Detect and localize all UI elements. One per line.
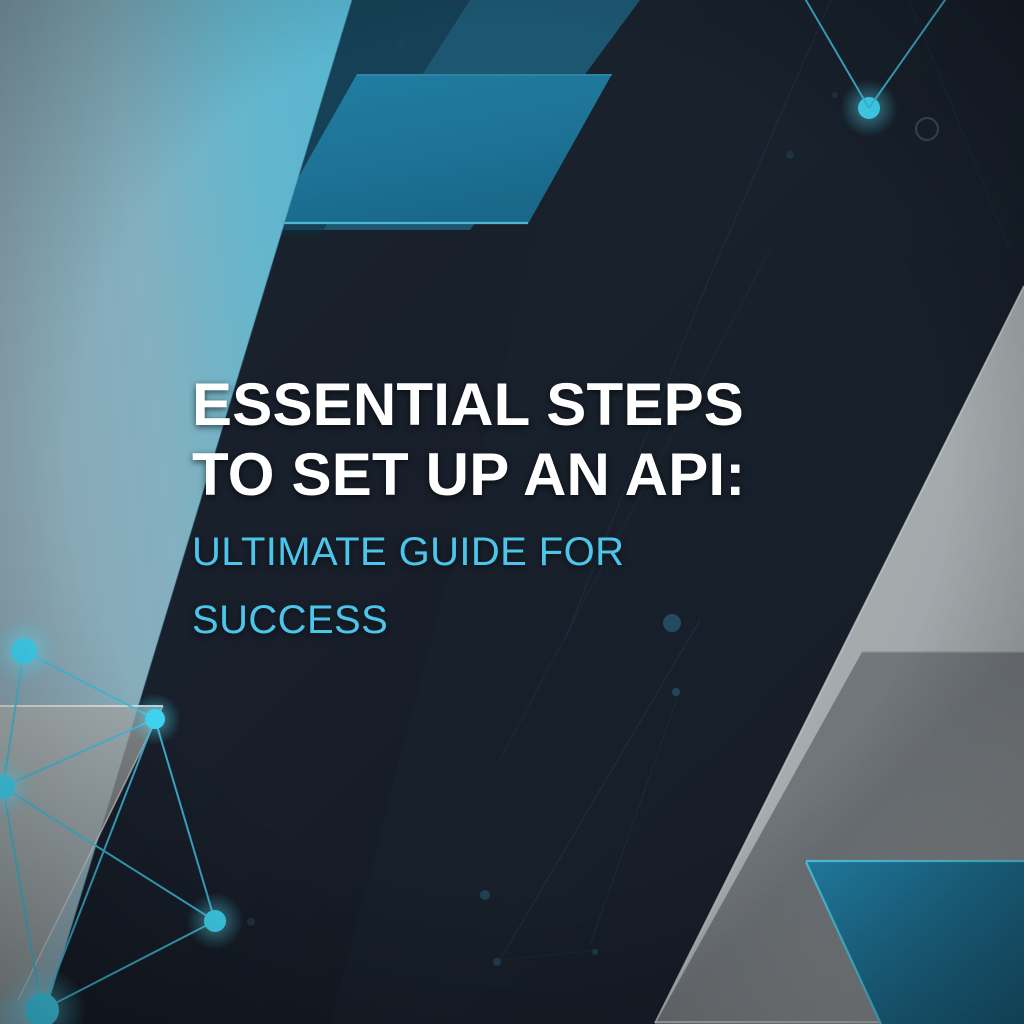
subheadline-line-2: SUCCESS xyxy=(192,592,812,648)
headline-line-2: TO SET UP AN API: xyxy=(192,440,812,510)
poster-canvas: ESSENTIAL STEPS TO SET UP AN API: ULTIMA… xyxy=(0,0,1024,1024)
headline-line-1: ESSENTIAL STEPS xyxy=(192,370,812,440)
poster-text-block: ESSENTIAL STEPS TO SET UP AN API: ULTIMA… xyxy=(192,370,812,648)
subheadline-line-1: ULTIMATE GUIDE FOR xyxy=(192,524,812,580)
